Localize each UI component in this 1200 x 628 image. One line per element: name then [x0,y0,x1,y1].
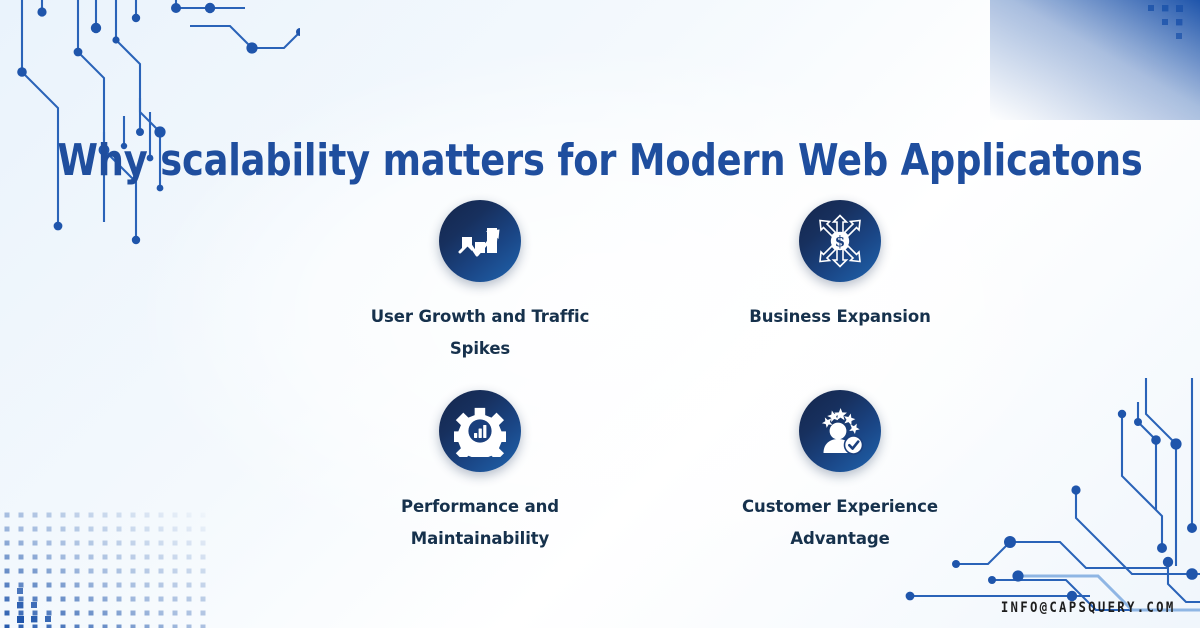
user-stars-check-icon [813,404,867,458]
poster-canvas: Why scalability matters for Modern Web A… [0,0,1200,628]
feature-item-business-expansion[interactable]: $ Business Expansion [660,200,1020,390]
feature-icon-badge [439,390,521,472]
feature-icon-badge: $ [799,200,881,282]
feature-label: Performance and Maintainability [365,491,595,554]
svg-text:$: $ [835,233,845,251]
growth-chart-arrow-icon [454,215,506,267]
contact-email[interactable]: INFO@CAPSQUERY.COM [1001,600,1176,616]
page-title: Why scalability matters for Modern Web A… [42,137,1158,185]
feature-label: Business Expansion [749,301,931,333]
feature-icon-badge [799,390,881,472]
feature-icon-badge [439,200,521,282]
feature-label: Customer Experience Advantage [725,491,955,554]
dollar-expansion-arrows-icon: $ [813,214,867,268]
feature-item-customer-experience[interactable]: Customer Experience Advantage [660,390,1020,580]
feature-label: User Growth and Traffic Spikes [365,301,595,364]
poster-content: Why scalability matters for Modern Web A… [0,0,1200,628]
feature-item-performance[interactable]: Performance and Maintainability [300,390,660,580]
feature-item-user-growth[interactable]: User Growth and Traffic Spikes [300,200,660,390]
feature-grid: User Growth and Traffic Spikes [300,200,1020,580]
gear-bar-chart-icon [454,405,506,457]
